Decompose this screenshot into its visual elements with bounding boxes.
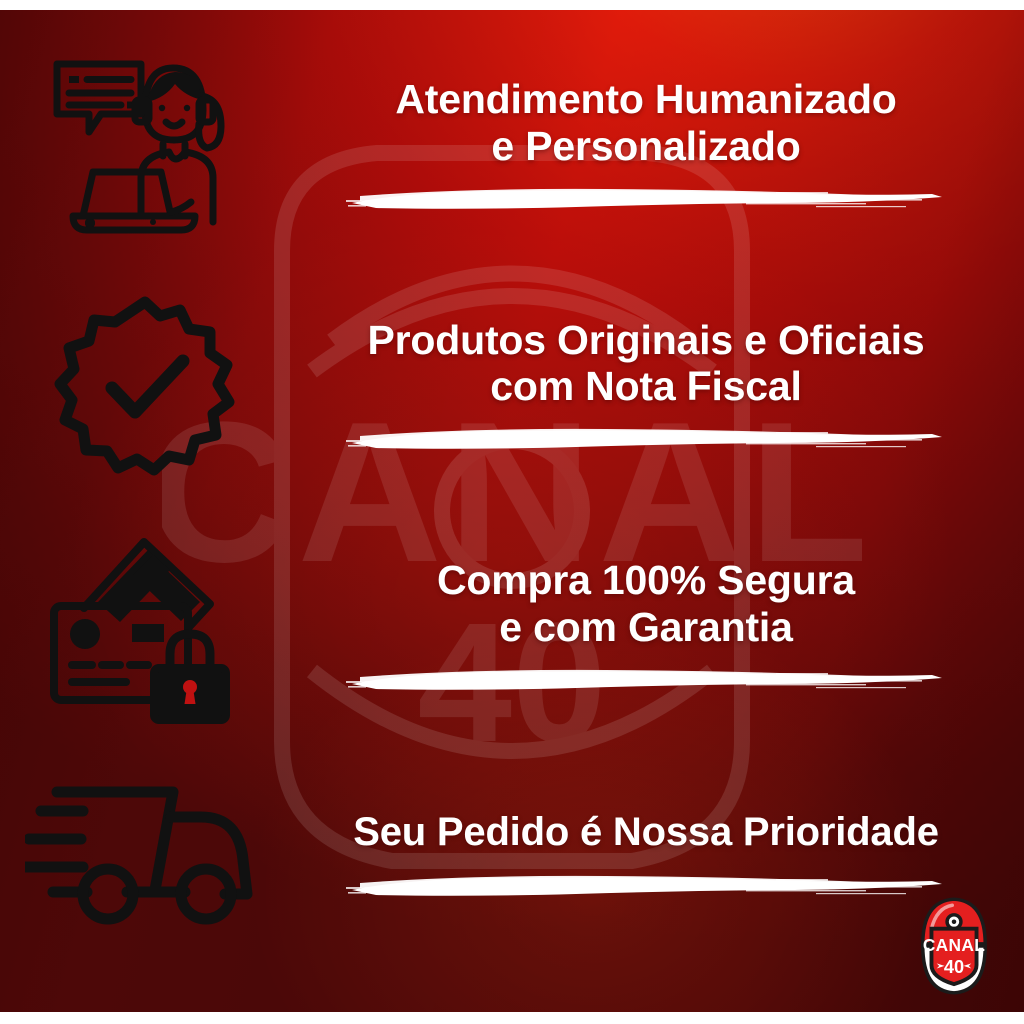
feature-row-3: Compra 100% Segura e com Garantia (0, 520, 1024, 735)
feature-icon-cell-4 (0, 782, 290, 932)
promo-banner: CANAL 40 (0, 0, 1024, 1024)
feature-headline-1-line-2: e Personalizado (491, 123, 800, 169)
logo-top-label: CANAL (923, 935, 985, 955)
feature-icon-cell-2 (0, 292, 290, 482)
fast-delivery-truck-icon (25, 782, 265, 932)
brush-underline-1 (346, 183, 946, 217)
feature-headline-1-line-1: Atendimento Humanizado (395, 76, 896, 122)
feature-text-cell-2: Produtos Originais e Oficiais com Nota F… (290, 317, 1024, 458)
feature-text-cell-1: Atendimento Humanizado e Personalizado (290, 76, 1024, 217)
brush-underline-4 (346, 870, 946, 904)
top-white-margin (0, 0, 1024, 10)
feature-headline-4-line-1: Seu Pedido é Nossa Prioridade (353, 810, 939, 855)
verified-badge-icon (50, 292, 240, 482)
support-agent-icon (45, 52, 245, 242)
feature-headline-2-line-2: com Nota Fiscal (490, 363, 801, 409)
feature-row-1: Atendimento Humanizado e Personalizado (0, 34, 1024, 259)
feature-headline-2-line-1: Produtos Originais e Oficiais (368, 317, 925, 363)
feature-text-cell-3: Compra 100% Segura e com Garantia (290, 557, 1024, 698)
feature-row-2: Produtos Originais e Oficiais com Nota F… (0, 282, 1024, 492)
brush-underline-2 (346, 423, 946, 457)
feature-headline-3-line-1: Compra 100% Segura (437, 557, 855, 603)
feature-icon-cell-3 (0, 530, 290, 725)
feature-row-4: Seu Pedido é Nossa Prioridade (0, 762, 1024, 952)
logo-bottom-label: 40 (944, 957, 964, 977)
feature-headline-3-line-2: e com Garantia (499, 604, 792, 650)
secure-payment-icon (40, 530, 250, 725)
feature-icon-cell-1 (0, 52, 290, 242)
brush-underline-3 (346, 664, 946, 698)
bottom-white-margin (0, 1012, 1024, 1024)
feature-text-cell-4: Seu Pedido é Nossa Prioridade (290, 810, 1024, 903)
canal-40-logo[interactable]: CANAL 40 (902, 894, 1006, 998)
